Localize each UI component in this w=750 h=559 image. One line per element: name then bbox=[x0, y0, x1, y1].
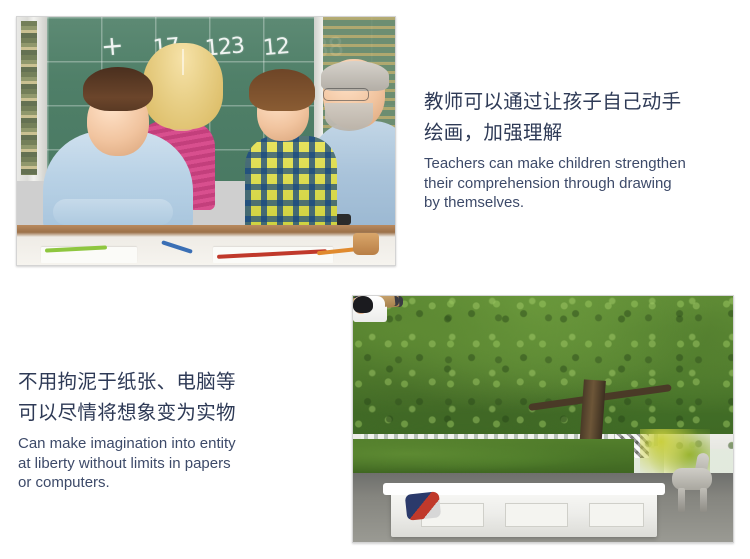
outdoor-text-block: 不用拘泥于纸张、电脑等 可以尽情将想象变为实物 Can make imagina… bbox=[18, 366, 330, 493]
boy-blue-arm bbox=[53, 199, 173, 225]
student-right-hair bbox=[353, 296, 373, 313]
chalk-number-12: 12 bbox=[262, 34, 290, 61]
outdoor-body-line-2: at liberty without limits in papers bbox=[18, 454, 330, 474]
teacher-wristwatch bbox=[335, 214, 351, 225]
outdoor-heading-line-1: 不用拘泥于纸张、电脑等 bbox=[18, 366, 330, 397]
horse-statue-body bbox=[672, 468, 712, 490]
classroom-body-line-1: Teachers can make children strengthen bbox=[424, 154, 736, 174]
tree-leaf-texture bbox=[353, 296, 733, 449]
backpack bbox=[405, 491, 442, 520]
teacher-hair bbox=[321, 61, 389, 91]
outdoor-heading-line-2: 可以尽情将想象变为实物 bbox=[18, 397, 330, 428]
classroom-text-block: 教师可以通过让孩子自己动手 绘画，加强理解 Teachers can make … bbox=[424, 86, 736, 213]
wooden-container bbox=[353, 233, 379, 255]
classroom-photo-inner: + 17 123 12 38 51 63 73 bbox=[17, 17, 395, 265]
boy-plaid-shirt-body bbox=[245, 136, 337, 230]
bench-panel-3 bbox=[589, 503, 644, 527]
classroom-heading-line-2: 绘画，加强理解 bbox=[424, 117, 736, 148]
classroom-heading-line-1: 教师可以通过让孩子自己动手 bbox=[424, 86, 736, 117]
outdoor-photo-inner bbox=[353, 296, 733, 542]
classroom-photo: + 17 123 12 38 51 63 73 bbox=[16, 16, 396, 266]
horse-statue bbox=[672, 449, 718, 518]
chalk-plus-sign: + bbox=[100, 30, 124, 63]
horse-statue-leg-back bbox=[700, 488, 707, 511]
teacher-beard bbox=[325, 103, 373, 131]
classroom-body-line-2: their comprehension through drawing bbox=[424, 174, 736, 194]
promo-page: + 17 123 12 38 51 63 73 bbox=[0, 0, 750, 559]
green-hedge bbox=[353, 439, 634, 476]
horse-statue-leg-front bbox=[678, 488, 685, 511]
outdoor-body-line-3: or computers. bbox=[18, 473, 330, 493]
boy-plaid-hair bbox=[249, 69, 315, 111]
outdoor-photo bbox=[352, 295, 734, 543]
outdoor-body-line-1: Can make imagination into entity bbox=[18, 434, 330, 454]
outdoor-body-text: Can make imagination into entity at libe… bbox=[18, 434, 330, 493]
chalkboard-left-strip bbox=[21, 21, 37, 175]
girl-blonde-hair bbox=[143, 43, 223, 129]
boy-blue-hair bbox=[83, 67, 153, 111]
girl-hair-part bbox=[182, 49, 184, 75]
classroom-body-line-3: by themselves. bbox=[424, 193, 736, 213]
classroom-body-text: Teachers can make children strengthen th… bbox=[424, 154, 736, 213]
teacher-glasses bbox=[323, 88, 369, 101]
bench-panel-2 bbox=[505, 503, 568, 527]
